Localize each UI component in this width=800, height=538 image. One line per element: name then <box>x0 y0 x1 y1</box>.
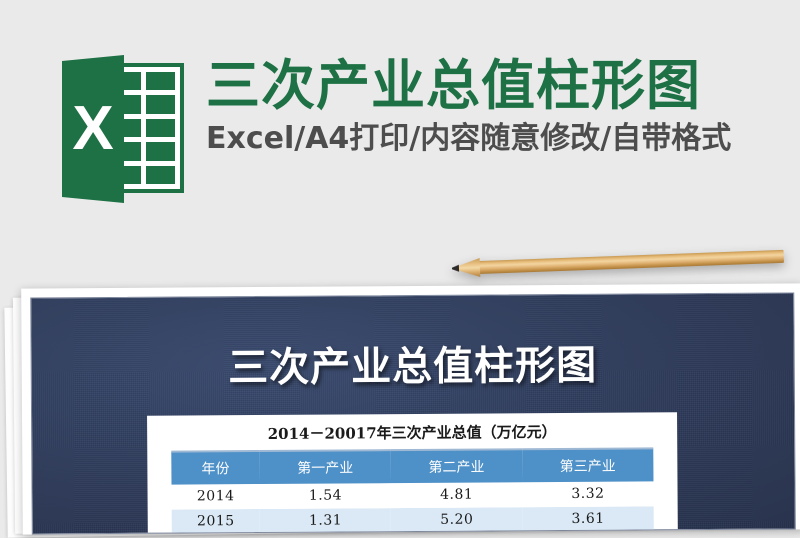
table-header-row: 年份 第一产业 第二产业 第三产业 <box>171 448 653 484</box>
cell-primary: 1.31 <box>260 508 391 534</box>
excel-logo-icon: X <box>62 55 184 203</box>
pencil-wood-cone <box>456 258 481 278</box>
excel-grid-cell <box>146 166 176 184</box>
table-caption: 2014－20017年三次产业总值（万亿元） <box>171 420 653 444</box>
document-preview-stack: 三次产业总值柱形图 2014－20017年三次产业总值（万亿元） 年份 第一产业… <box>0 280 800 526</box>
table-head: 年份 第一产业 第二产业 第三产业 <box>171 448 653 484</box>
document-page: 三次产业总值柱形图 2014－20017年三次产业总值（万亿元） 年份 第一产业… <box>21 283 800 534</box>
excel-grid-cell <box>146 72 176 90</box>
document-cover: 三次产业总值柱形图 2014－20017年三次产业总值（万亿元） 年份 第一产业… <box>30 292 796 534</box>
column-header-primary[interactable]: 第一产业 <box>259 450 390 484</box>
cell-tertiary: 3.61 <box>522 506 653 532</box>
cell-year: 2014 <box>171 484 259 509</box>
cell-secondary: 6.40 <box>391 532 522 535</box>
excel-grid-cell <box>146 95 176 113</box>
column-header-year[interactable]: 年份 <box>171 451 259 485</box>
promo-banner: X 三次产业总值柱形图 Excel/A4打印/内容随意修改/自带格式 <box>0 0 800 270</box>
table-body: 2014 1.54 4.81 3.32 2015 1.31 5.20 3.61 <box>171 481 654 534</box>
cell-secondary: 4.81 <box>391 482 522 507</box>
banner-title: 三次产业总值柱形图 <box>206 57 731 115</box>
column-header-secondary[interactable]: 第二产业 <box>391 449 522 483</box>
cell-secondary: 5.20 <box>391 507 522 533</box>
excel-grid-cell <box>146 142 176 160</box>
excel-grid-cell <box>146 119 176 137</box>
cell-tertiary: 3.32 <box>522 481 653 506</box>
banner-text-block: 三次产业总值柱形图 Excel/A4打印/内容随意修改/自带格式 <box>206 55 731 157</box>
table-row[interactable]: 2014 1.54 4.81 3.32 <box>171 481 653 509</box>
cell-tertiary: 3.92 <box>523 531 654 535</box>
table-card: 2014－20017年三次产业总值（万亿元） 年份 第一产业 第二产业 第三产业… <box>147 412 678 533</box>
column-header-tertiary[interactable]: 第三产业 <box>522 448 653 482</box>
document-title: 三次产业总值柱形图 <box>32 331 794 394</box>
table-row[interactable]: 2015 1.31 5.20 3.61 <box>172 506 654 534</box>
banner-content: X 三次产业总值柱形图 Excel/A4打印/内容随意修改/自带格式 <box>62 55 731 203</box>
cell-primary: 1.54 <box>260 483 391 508</box>
data-table: 年份 第一产业 第二产业 第三产业 2014 1.54 4.81 3.32 <box>171 447 654 534</box>
cell-year: 2015 <box>172 509 260 535</box>
pencil-graphite-tip <box>452 265 459 272</box>
banner-subtitle: Excel/A4打印/内容随意修改/自带格式 <box>206 121 731 157</box>
excel-letter-x: X <box>62 55 124 203</box>
